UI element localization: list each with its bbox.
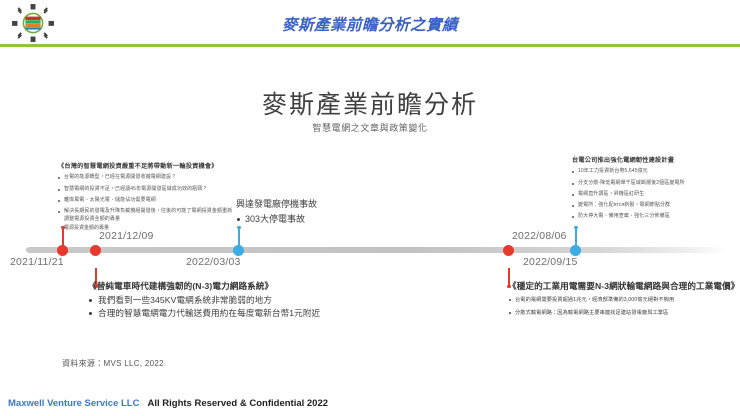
right-note-heading: 台電公司推出強化電網韌性建設計畫: [572, 156, 734, 165]
slide-subtitle: 智慧電網之文章與政策變化: [0, 121, 740, 134]
bottom-left-callout: 《替純電車時代建構強韌的(N-3)電力網路系統》 我們看到一些345KV電網系統…: [88, 280, 370, 320]
timeline-marker-dot[interactable]: [90, 245, 101, 256]
right-note-list: 10年工力投資新台幣5,645億元 分支分散-降低電網單千區域斷層後2個區變電所…: [572, 168, 734, 221]
bottom-left-callout-list: 我們看到一些345KV電網系統非常脆弱的地方 合理的智慧電網電力代輸送費用約在每…: [88, 294, 370, 320]
timeline-stem: [575, 228, 577, 246]
mid-event-list: 303大停電事故: [236, 213, 376, 226]
mid-event-callout: 興達發電廠停機事故 303大停電事故: [236, 198, 376, 225]
list-item: 分支分散-降低電網單千區域斷層後2個區變電所: [572, 180, 734, 188]
list-item: 台電的電網需要投資超過1兆元，經濟部準備的3,000億元絕對不夠用: [508, 296, 736, 304]
bottom-right-callout: 《穩定的工業用電需要N-3網狀輸電網路與合理的工業電價》 台電的電網需要投資超過…: [508, 280, 736, 317]
header-divider: [0, 44, 740, 47]
list-item: 智慧電網的投資不足，已經讓45年電源開發區域成功效的瓶頸？: [58, 186, 233, 194]
timeline-marker-dot[interactable]: [503, 245, 514, 256]
list-item: 303大停電事故: [236, 213, 376, 226]
timeline-marker-dot[interactable]: [57, 245, 68, 256]
list-item: 防大停大電、備用查案、強化三分佈備區: [572, 213, 734, 221]
right-note-block: 台電公司推出強化電網韌性建設計畫 10年工力投資新台幣5,645億元 分支分散-…: [572, 156, 734, 225]
list-item: 變電所：強化配ятся新製，電網節點分群: [572, 202, 734, 210]
left-note-block: 《台灣的智慧電網投資嚴重不足將帶動新一輪投資機會》 台電的能源轉型，已經在電源開…: [58, 162, 233, 233]
page-footer: Maxwell Venture Service LLCAll Rights Re…: [8, 398, 328, 409]
list-item: 解決長期民的發電及升降負載機組開發後，往後的可能了電網投資金額重新調整電源投資全…: [58, 208, 233, 224]
timeline-date-label: 2022/03/03: [186, 256, 241, 268]
footer-brand: Maxwell Venture Service LLC: [8, 398, 139, 409]
left-note-list: 台電的能源轉型，已經在電源開發收攏電網建設？ 智慧電網的投資不足，已經讓45年電…: [58, 174, 233, 223]
bottom-left-callout-heading: 《替純電車時代建構強韌的(N-3)電力網路系統》: [88, 280, 370, 292]
timeline-date-label: 2022/09/15: [523, 256, 578, 268]
timeline-date-label: 2021/12/09: [99, 230, 154, 242]
list-item: 10年工力投資新台幣5,645億元: [572, 168, 734, 176]
timeline-stem-tip: [61, 226, 64, 229]
footer-rights: All Rights Reserved & Confidential 2022: [147, 398, 328, 409]
list-item: 合理的智慧電網電力代輸送費用約在每度電新台幣1元附近: [88, 307, 370, 320]
timeline-marker-dot[interactable]: [233, 245, 244, 256]
bottom-right-callout-heading: 《穩定的工業用電需要N-3網狀輸電網路與合理的工業電價》: [508, 280, 736, 292]
bottom-right-callout-list: 台電的電網需要投資超過1兆元，經濟部準備的3,000億元絕對不夠用 分散式輸電網…: [508, 296, 736, 317]
slide-title: 麥斯產業前瞻分析: [0, 85, 740, 121]
list-item: 台電的能源轉型，已經在電源開發收攏電網建設？: [58, 174, 233, 182]
timeline-stem-tip: [237, 226, 240, 229]
list-item: 我們看到一些345KV電網系統非常脆弱的地方: [88, 294, 370, 307]
mid-event-heading: 興達發電廠停機事故: [236, 198, 376, 211]
left-note-heading: 《台灣的智慧電網投資嚴重不足將帶動新一輪投資機會》: [58, 162, 233, 171]
page-header: 麥斯產業前瞻分析之實績: [0, 0, 740, 46]
timeline-stem-tip: [574, 226, 577, 229]
timeline-date-label: 2021/11/21: [10, 256, 64, 268]
source-note: 資料來源：MVS LLC, 2022: [62, 358, 164, 369]
list-item: 離岸風電、太陽光電、儲能佔功需要電網: [58, 197, 233, 205]
timeline-date-label: 2022/08/06: [512, 230, 567, 242]
list-item: 分散式輸電網路：因為輸電網路主要串連找足建站發電廠與工業區: [508, 309, 736, 317]
timeline-stem: [62, 228, 64, 246]
timeline-stem: [238, 228, 240, 246]
timeline-marker-dot[interactable]: [570, 245, 581, 256]
list-item: 電網直升調區，昇機區紅研生: [572, 191, 734, 199]
page-title: 麥斯產業前瞻分析之實績: [0, 13, 740, 35]
timeline-bar: [26, 247, 726, 253]
